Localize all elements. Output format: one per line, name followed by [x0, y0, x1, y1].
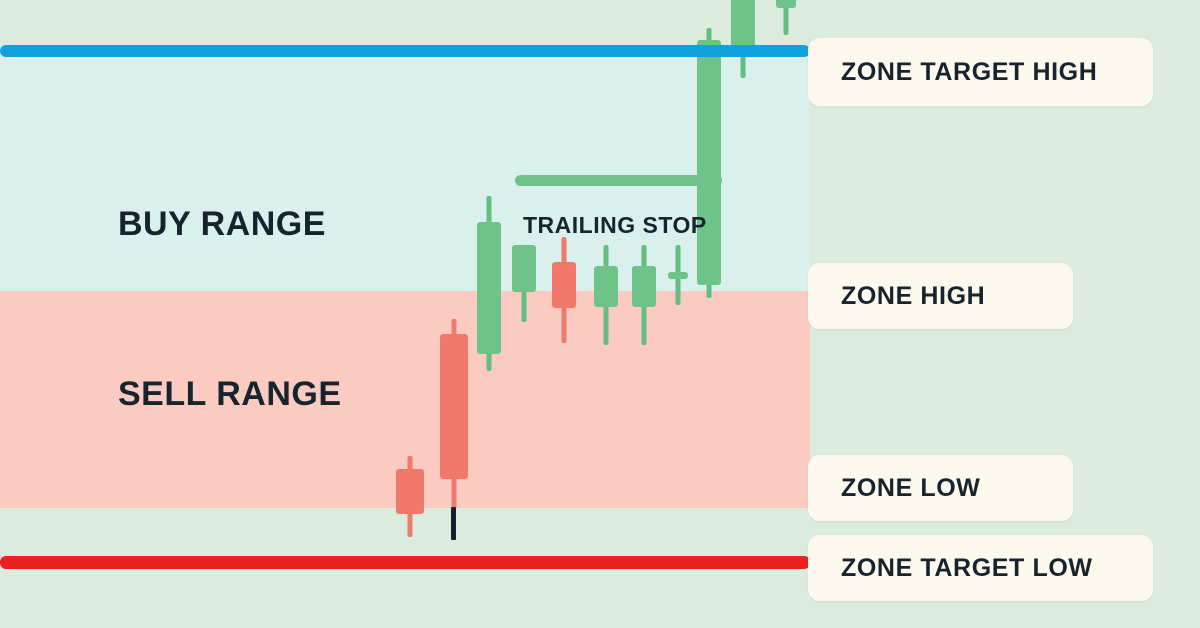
candlestick-body	[776, 0, 796, 8]
candlestick-body	[512, 245, 536, 292]
candlestick-7-up	[668, 0, 688, 628]
candlestick-body	[668, 272, 688, 279]
callout-zone-target-high: ZONE TARGET HIGH	[808, 38, 1153, 106]
candlestick-body	[697, 40, 721, 285]
candlestick-8-up	[697, 0, 721, 628]
callout-zone-high: ZONE HIGH	[808, 263, 1073, 329]
trailing-stop-line	[515, 175, 722, 186]
candlestick-body	[552, 262, 576, 308]
candlestick-0-down	[396, 0, 424, 628]
candlestick-body	[477, 222, 501, 354]
candlestick-5-up	[594, 0, 618, 628]
candlestick-3-up	[512, 0, 536, 628]
callout-zone-target-low: ZONE TARGET LOW	[808, 535, 1153, 601]
callout-zone-low: ZONE LOW	[808, 455, 1073, 521]
zone-target-high-line	[0, 45, 810, 57]
candlestick-body	[440, 334, 468, 479]
big-red-candle-lower-wick	[451, 507, 456, 540]
sell-range-label: SELL RANGE	[118, 375, 342, 414]
trailing-stop-label: TRAILING STOP	[523, 212, 707, 239]
candlestick-2-up	[477, 0, 501, 628]
candlestick-body	[396, 469, 424, 514]
candlestick-body	[731, 0, 755, 50]
candlestick-plot	[0, 0, 810, 628]
trading-zone-diagram: BUY RANGE SELL RANGE TRAILING STOP ZONE …	[0, 0, 1200, 628]
candlestick-body	[594, 266, 618, 307]
candlestick-10-up	[776, 0, 796, 628]
candlestick-9-up	[731, 0, 755, 628]
zone-target-low-line	[0, 556, 810, 569]
candlestick-body	[632, 266, 656, 307]
candlestick-4-down	[552, 0, 576, 628]
candlestick-6-up	[632, 0, 656, 628]
buy-range-label: BUY RANGE	[118, 205, 326, 244]
